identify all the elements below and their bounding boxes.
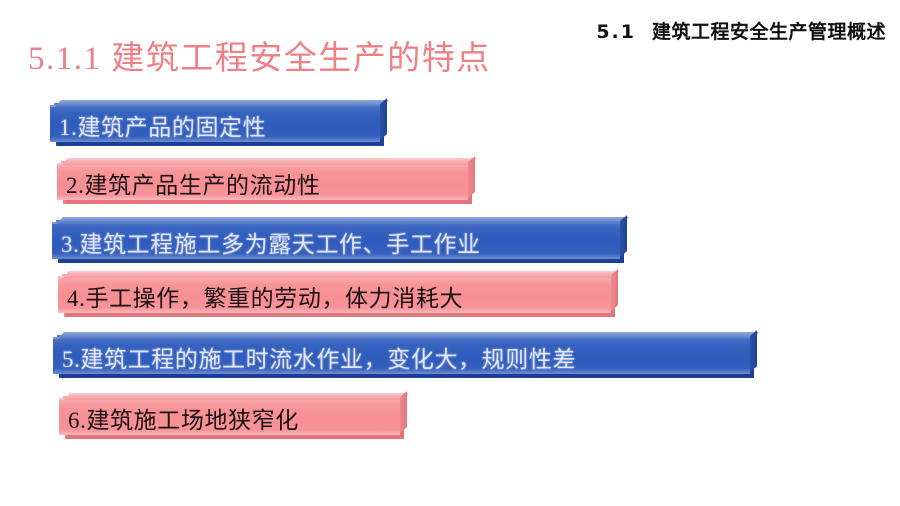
- list-item-label: 5.建筑工程的施工时流水作业，变化大，规则性差: [62, 340, 576, 374]
- page-title: 5.1.1 建筑工程安全生产的特点: [28, 38, 538, 80]
- list-item: 3.建筑工程施工多为露天工作、手工作业: [52, 222, 620, 259]
- list-item-label: 1.建筑产品的固定性: [59, 108, 266, 142]
- presentation-slide: 5.1建筑工程安全生产管理概述 5.1.1 建筑工程安全生产的特点 1.建筑产品…: [0, 0, 900, 506]
- list-item: 1.建筑产品的固定性: [50, 105, 380, 142]
- header-section-number: 5.1: [596, 21, 636, 43]
- list-item-label: 6.建筑施工场地狭窄化: [68, 401, 299, 435]
- list-item: 2.建筑产品生产的流动性: [57, 163, 468, 200]
- list-item-label: 2.建筑产品生产的流动性: [66, 166, 320, 200]
- list-item-label: 3.建筑工程施工多为露天工作、手工作业: [61, 225, 481, 259]
- list-item-label: 4.手工操作，繁重的劳动，体力消耗大: [67, 279, 463, 313]
- slide-running-header: 5.1建筑工程安全生产管理概述: [596, 22, 886, 43]
- list-item: 5.建筑工程的施工时流水作业，变化大，规则性差: [53, 337, 750, 374]
- list-item: 6.建筑施工场地狭窄化: [59, 398, 400, 435]
- list-item: 4.手工操作，繁重的劳动，体力消耗大: [58, 276, 611, 313]
- header-section-title: 建筑工程安全生产管理概述: [652, 21, 886, 43]
